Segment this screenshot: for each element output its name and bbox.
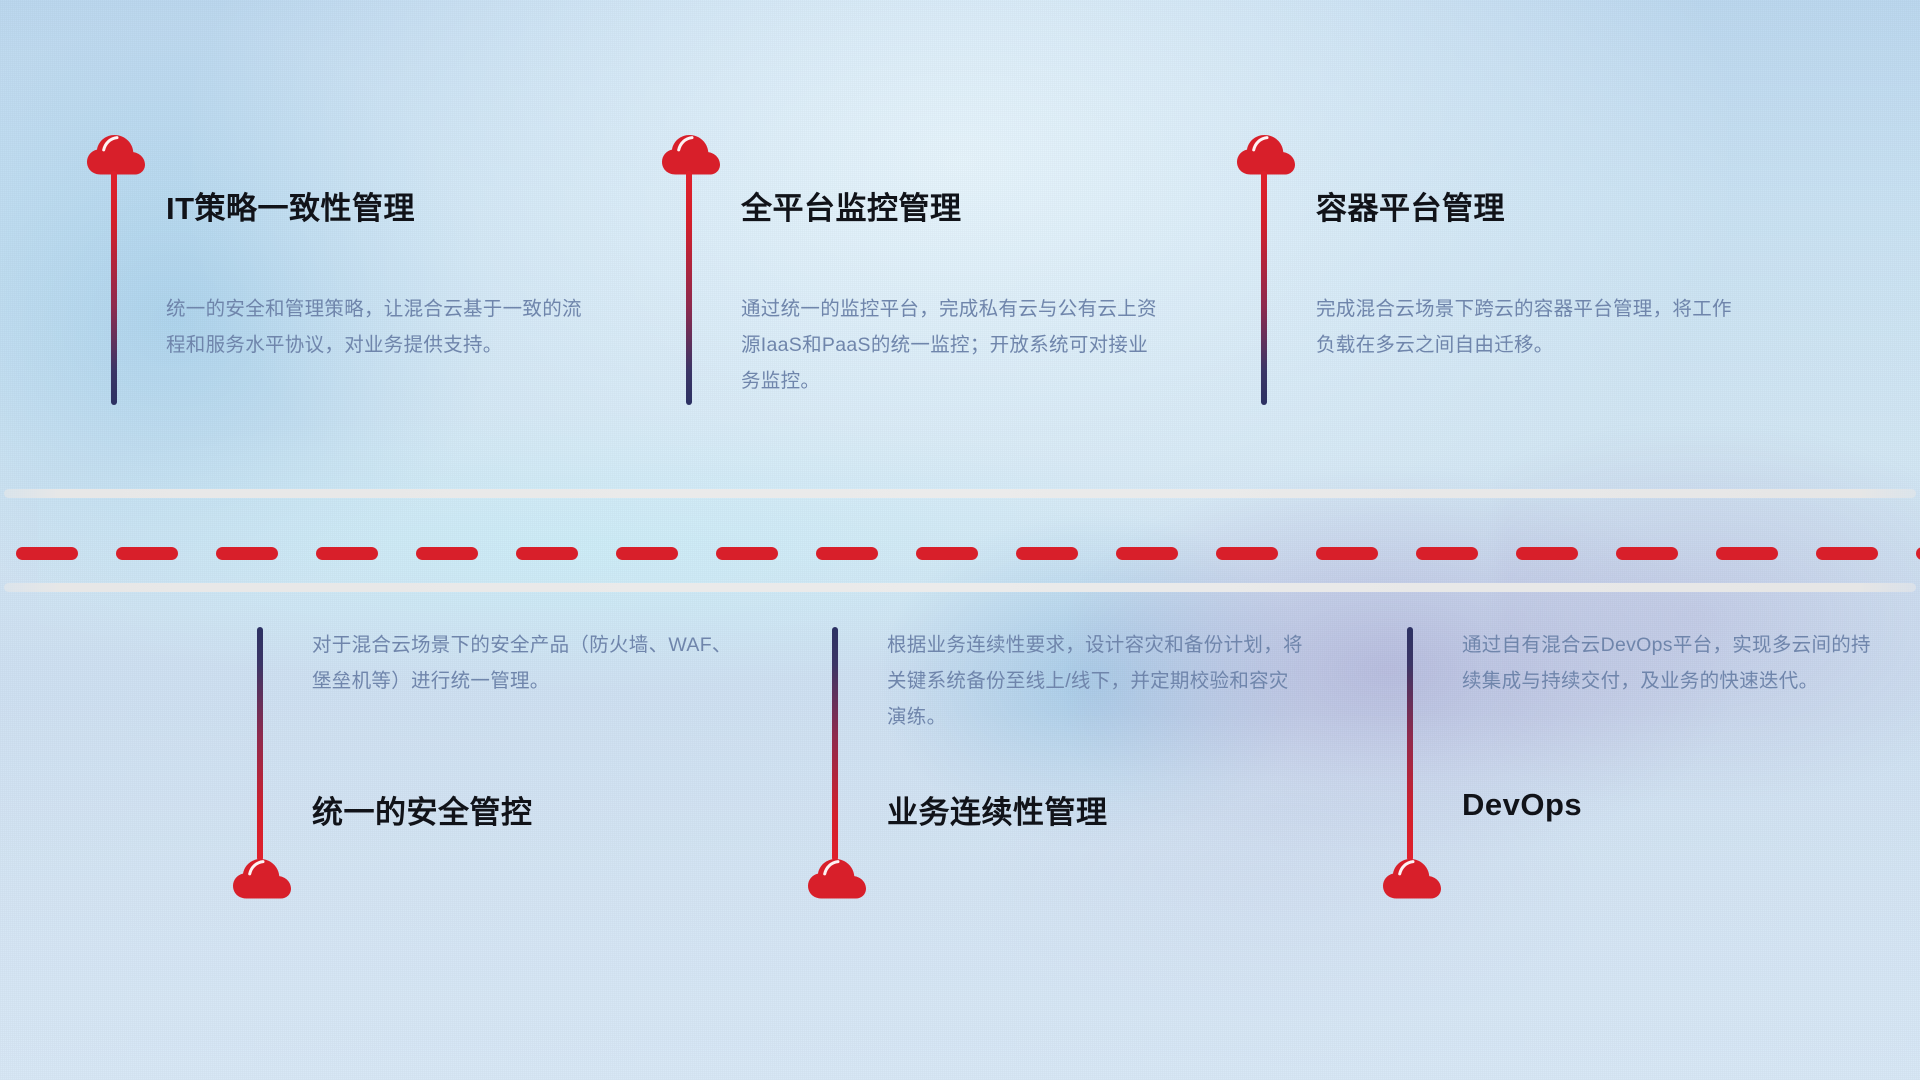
divider-dash	[216, 547, 278, 560]
cloud-icon	[1236, 131, 1296, 175]
card-body: 通过统一的监控平台，完成私有云与公有云上资源IaaS和PaaS的统一监控；开放系…	[741, 291, 1161, 399]
card-body: 通过自有混合云DevOps平台，实现多云间的持续集成与持续交付，及业务的快速迭代…	[1462, 627, 1882, 699]
connector-stem	[832, 627, 838, 861]
divider-rule-bottom	[4, 583, 1916, 592]
divider-dash	[1216, 547, 1278, 560]
card-body: 对于混合云场景下的安全产品（防火墙、WAF、堡垒机等）进行统一管理。	[312, 627, 732, 699]
card-title: 全平台监控管理	[741, 183, 962, 228]
divider-dash	[416, 547, 478, 560]
divider-dash	[1016, 547, 1078, 560]
divider-dash	[1316, 547, 1378, 560]
divider-dash	[916, 547, 978, 560]
divider-dash	[1416, 547, 1478, 560]
cloud-icon	[232, 855, 292, 899]
connector-stem	[1261, 171, 1267, 405]
card-body: 完成混合云场景下跨云的容器平台管理，将工作负载在多云之间自由迁移。	[1316, 291, 1736, 363]
divider-dash	[816, 547, 878, 560]
divider-dash	[116, 547, 178, 560]
divider-dash	[716, 547, 778, 560]
divider-dash	[1816, 547, 1878, 560]
background-noise-texture	[0, 0, 1920, 1080]
background-canvas	[0, 0, 1920, 1080]
divider-dashed-red	[0, 546, 1920, 560]
card-title: IT策略一致性管理	[166, 183, 415, 228]
divider-dash	[516, 547, 578, 560]
cloud-icon	[661, 131, 721, 175]
card-title: DevOps	[1462, 787, 1582, 823]
divider-dash	[1616, 547, 1678, 560]
divider-dash	[1716, 547, 1778, 560]
card-body: 统一的安全和管理策略，让混合云基于一致的流程和服务水平协议，对业务提供支持。	[166, 291, 586, 363]
card-title: 业务连续性管理	[887, 787, 1108, 832]
divider-rule-top	[4, 489, 1916, 498]
divider-dash	[616, 547, 678, 560]
divider-dash	[316, 547, 378, 560]
divider-dash	[16, 547, 78, 560]
card-title: 统一的安全管控	[312, 787, 533, 832]
divider-dash	[1116, 547, 1178, 560]
divider-dash	[1916, 547, 1920, 560]
cloud-icon	[1382, 855, 1442, 899]
connector-stem	[111, 171, 117, 405]
cloud-icon	[807, 855, 867, 899]
divider-dash	[1516, 547, 1578, 560]
card-title: 容器平台管理	[1316, 183, 1505, 228]
connector-stem	[257, 627, 263, 861]
connector-stem	[1407, 627, 1413, 861]
card-body: 根据业务连续性要求，设计容灾和备份计划，将关键系统备份至线上/线下，并定期校验和…	[887, 627, 1307, 735]
connector-stem	[686, 171, 692, 405]
cloud-icon	[86, 131, 146, 175]
